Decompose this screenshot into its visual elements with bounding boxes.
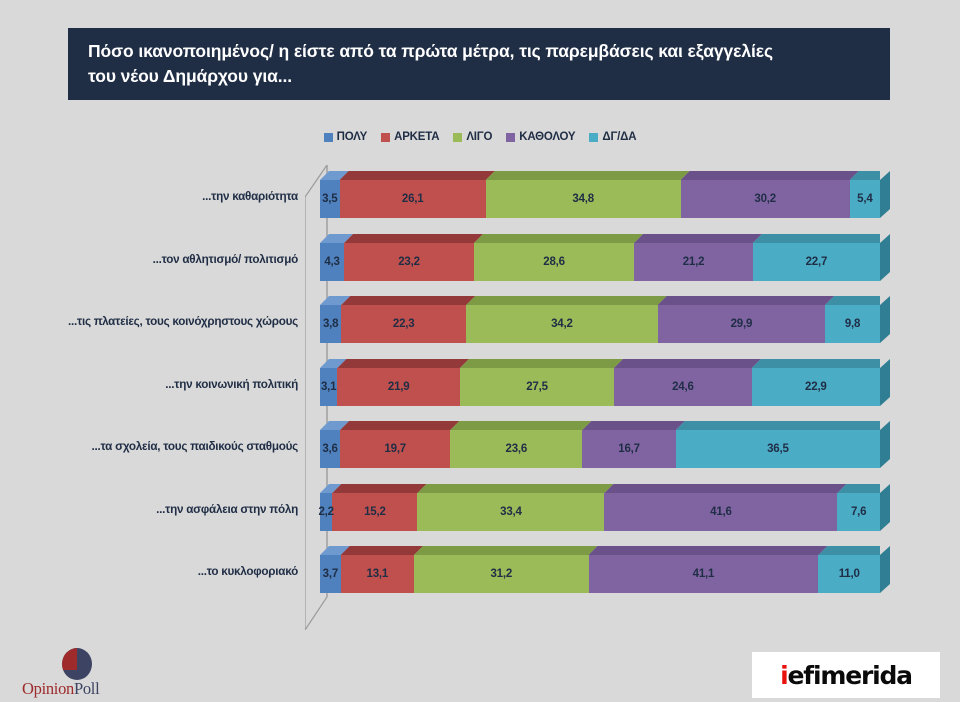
iefimerida-initial: i (780, 661, 787, 690)
bar-segment-1[interactable]: 21,9 (337, 368, 460, 406)
category-label: ...τα σχολεία, τους παιδικούς σταθμούς (48, 440, 298, 454)
bar-value-label: 27,5 (526, 381, 548, 393)
bar-segment-0[interactable]: 4,3 (320, 243, 344, 281)
chart-title-banner: Πόσο ικανοποιημένος/ η είστε από τα πρώτ… (68, 28, 890, 100)
stacked-bar[interactable]: 3,121,927,524,622,9 (320, 368, 880, 406)
opinionpoll-logo: OpinionPoll (22, 648, 162, 698)
bar-segment-2[interactable]: 28,6 (474, 243, 634, 281)
legend-label: ΠΟΛΥ (337, 131, 367, 143)
bar-segment-2[interactable]: 31,2 (414, 555, 589, 593)
bar-front-face: 3,822,334,229,99,8 (320, 305, 880, 343)
chart-row: ...την καθαριότητα3,526,134,830,25,4 (0, 168, 960, 230)
chart-plot-area: ...την καθαριότητα3,526,134,830,25,4...τ… (0, 160, 960, 635)
bar-segment-0[interactable]: 3,5 (320, 180, 340, 218)
pie-slice (62, 648, 77, 670)
bar-segment-3[interactable]: 41,6 (604, 493, 837, 531)
bar-segment-1[interactable]: 19,7 (340, 430, 450, 468)
bar-side-face (880, 484, 890, 531)
bar-top-face (320, 484, 880, 493)
bar-value-label: 16,7 (618, 443, 640, 455)
bar-front-face: 4,323,228,621,222,7 (320, 243, 880, 281)
bar-value-label: 3,5 (322, 193, 337, 205)
category-label: ...την κοινωνική πολιτική (48, 378, 298, 392)
bar-value-label: 22,3 (393, 318, 415, 330)
pie-chart-icon (62, 648, 92, 680)
bar-segment-4[interactable]: 36,5 (676, 430, 880, 468)
legend-item-4[interactable]: ΔΓ/ΔΑ (589, 131, 636, 143)
bar-segment-3[interactable]: 21,2 (634, 243, 753, 281)
chart-row: ...το κυκλοφοριακό3,713,131,241,111,0 (0, 543, 960, 605)
bar-value-label: 22,7 (806, 256, 828, 268)
iefimerida-rest: efimerida (788, 661, 912, 690)
bar-value-label: 34,8 (572, 193, 594, 205)
page-title: Πόσο ικανοποιημένος/ η είστε από τα πρώτ… (88, 39, 870, 90)
bar-segment-0[interactable]: 3,1 (320, 368, 337, 406)
chart-row: ...την κοινωνική πολιτική3,121,927,524,6… (0, 356, 960, 418)
stacked-bar[interactable]: 2,215,233,441,67,6 (320, 493, 880, 531)
bar-value-label: 22,9 (805, 381, 827, 393)
bar-value-label: 36,5 (767, 443, 789, 455)
bar-segment-4[interactable]: 5,4 (850, 180, 880, 218)
bar-segment-3[interactable]: 29,9 (658, 305, 825, 343)
bar-segment-2[interactable]: 34,2 (466, 305, 658, 343)
bar-side-face (880, 359, 890, 406)
opinionpoll-word-one: Opinion (22, 679, 74, 698)
stacked-bar[interactable]: 4,323,228,621,222,7 (320, 243, 880, 281)
legend-item-2[interactable]: ΛΙΓΟ (453, 131, 492, 143)
bar-value-label: 2,2 (318, 506, 333, 518)
bar-value-label: 9,8 (845, 318, 860, 330)
bar-segment-0[interactable]: 2,2 (320, 493, 332, 531)
bar-segment-1[interactable]: 23,2 (344, 243, 474, 281)
bar-front-face: 3,121,927,524,622,9 (320, 368, 880, 406)
chart-row: ...τον αθλητισμό/ πολιτισμό4,323,228,621… (0, 231, 960, 293)
bar-value-label: 31,2 (490, 568, 512, 580)
bar-segment-4[interactable]: 7,6 (837, 493, 880, 531)
bar-segment-1[interactable]: 13,1 (341, 555, 414, 593)
bar-value-label: 21,9 (388, 381, 410, 393)
legend-swatch-icon (324, 133, 333, 142)
bar-value-label: 23,2 (398, 256, 420, 268)
legend-label: ΔΓ/ΔΑ (602, 131, 636, 143)
bar-value-label: 19,7 (384, 443, 406, 455)
bar-value-label: 3,6 (322, 443, 337, 455)
bar-value-label: 3,1 (321, 381, 336, 393)
bar-front-face: 2,215,233,441,67,6 (320, 493, 880, 531)
category-label: ...το κυκλοφοριακό (48, 565, 298, 579)
bar-front-face: 3,713,131,241,111,0 (320, 555, 880, 593)
bar-segment-4[interactable]: 22,9 (752, 368, 880, 406)
bar-value-label: 4,3 (324, 256, 339, 268)
bar-value-label: 41,6 (710, 506, 732, 518)
legend-item-0[interactable]: ΠΟΛΥ (324, 131, 367, 143)
bar-value-label: 11,0 (839, 568, 860, 580)
bar-segment-2[interactable]: 33,4 (417, 493, 604, 531)
bar-top-face (320, 546, 880, 555)
bar-value-label: 23,6 (506, 443, 528, 455)
opinionpoll-wordmark: OpinionPoll (22, 679, 162, 699)
opinionpoll-word-two: Poll (74, 679, 99, 698)
chart-row: ...την ασφάλεια στην πόλη2,215,233,441,6… (0, 481, 960, 543)
chart-legend: ΠΟΛΥΑΡΚΕΤΑΛΙΓΟΚΑΘΟΛΟΥΔΓ/ΔΑ (0, 131, 960, 143)
chart-row: ...τα σχολεία, τους παιδικούς σταθμούς3,… (0, 418, 960, 480)
stacked-bar[interactable]: 3,526,134,830,25,4 (320, 180, 880, 218)
legend-item-3[interactable]: ΚΑΘΟΛΟΥ (506, 131, 575, 143)
bar-front-face: 3,619,723,616,736,5 (320, 430, 880, 468)
bar-top-face (320, 359, 880, 368)
bar-segment-0[interactable]: 3,7 (320, 555, 341, 593)
bar-value-label: 15,2 (364, 506, 386, 518)
bar-value-label: 3,8 (323, 318, 338, 330)
bar-value-label: 21,2 (683, 256, 705, 268)
bar-front-face: 3,526,134,830,25,4 (320, 180, 880, 218)
category-label: ...τον αθλητισμό/ πολιτισμό (48, 253, 298, 267)
bar-side-face (880, 171, 890, 218)
bar-segment-0[interactable]: 3,8 (320, 305, 341, 343)
stacked-bar[interactable]: 3,713,131,241,111,0 (320, 555, 880, 593)
bar-value-label: 26,1 (402, 193, 424, 205)
bar-segment-4[interactable]: 11,0 (818, 555, 880, 593)
bar-top-face (320, 296, 880, 305)
bar-value-label: 3,7 (323, 568, 338, 580)
category-label: ...την καθαριότητα (48, 190, 298, 204)
legend-label: ΛΙΓΟ (466, 131, 492, 143)
bar-segment-2[interactable]: 34,8 (486, 180, 681, 218)
stacked-bar[interactable]: 3,619,723,616,736,5 (320, 430, 880, 468)
bar-segment-1[interactable]: 22,3 (341, 305, 466, 343)
bar-top-face (320, 171, 880, 180)
bar-segment-3[interactable]: 30,2 (681, 180, 850, 218)
legend-swatch-icon (589, 133, 598, 142)
bar-segment-4[interactable]: 22,7 (753, 243, 880, 281)
bar-value-label: 24,6 (672, 381, 694, 393)
bar-segment-2[interactable]: 23,6 (450, 430, 582, 468)
bar-value-label: 29,9 (731, 318, 753, 330)
bar-value-label: 7,6 (851, 506, 866, 518)
bar-segment-3[interactable]: 16,7 (582, 430, 675, 468)
iefimerida-logo: iefimerida (752, 652, 940, 698)
bar-value-label: 28,6 (543, 256, 565, 268)
bar-segment-3[interactable]: 41,1 (589, 555, 819, 593)
bar-side-face (880, 546, 890, 593)
category-label: ...την ασφάλεια στην πόλη (48, 503, 298, 517)
chart-row: ...τις πλατείες, τους κοινόχρηστους χώρο… (0, 293, 960, 355)
category-label: ...τις πλατείες, τους κοινόχρηστους χώρο… (48, 315, 298, 329)
legend-swatch-icon (381, 133, 390, 142)
bar-value-label: 34,2 (551, 318, 573, 330)
bar-segment-3[interactable]: 24,6 (614, 368, 752, 406)
iefimerida-wordmark: iefimerida (780, 661, 912, 690)
bar-side-face (880, 234, 890, 281)
legend-item-1[interactable]: ΑΡΚΕΤΑ (381, 131, 439, 143)
bar-segment-1[interactable]: 15,2 (332, 493, 417, 531)
bar-value-label: 30,2 (754, 193, 776, 205)
bar-value-label: 13,1 (367, 568, 389, 580)
legend-swatch-icon (506, 133, 515, 142)
bar-segment-2[interactable]: 27,5 (460, 368, 614, 406)
bar-value-label: 41,1 (693, 568, 715, 580)
legend-label: ΚΑΘΟΛΟΥ (519, 131, 575, 143)
bar-segment-4[interactable]: 9,8 (825, 305, 880, 343)
bar-value-label: 33,4 (500, 506, 522, 518)
bar-segment-0[interactable]: 3,6 (320, 430, 340, 468)
bar-value-label: 5,4 (857, 193, 872, 205)
bar-top-face (320, 421, 880, 430)
legend-swatch-icon (453, 133, 462, 142)
bar-side-face (880, 296, 890, 343)
bar-segment-1[interactable]: 26,1 (340, 180, 486, 218)
stacked-bar[interactable]: 3,822,334,229,99,8 (320, 305, 880, 343)
bar-top-face (320, 234, 880, 243)
legend-label: ΑΡΚΕΤΑ (394, 131, 439, 143)
bar-side-face (880, 421, 890, 468)
